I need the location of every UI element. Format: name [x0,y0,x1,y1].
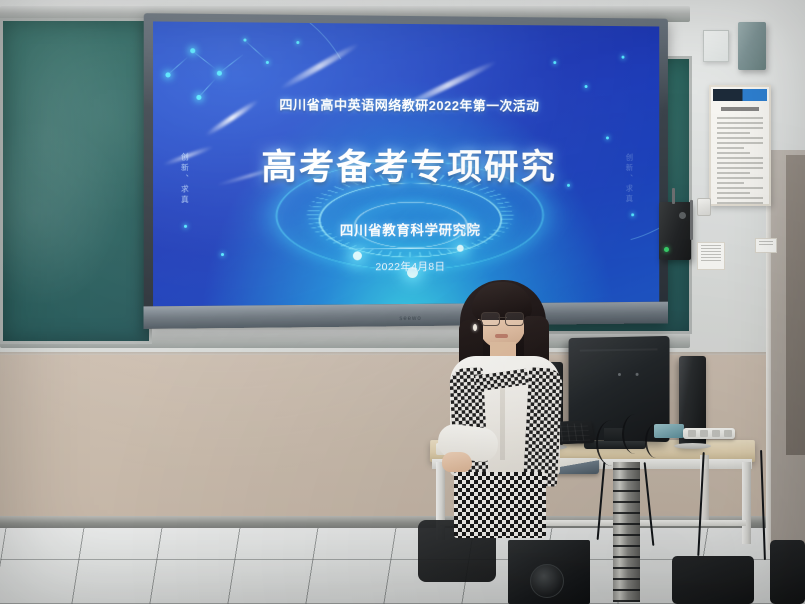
framed-notice-poster [709,85,771,206]
wall-conduit [672,188,675,204]
wall-mounted-panel [703,30,729,62]
wall-conduit [690,200,693,240]
vest-right-panel [523,367,563,487]
slide-date: 2022年4月8日 [375,259,445,274]
speaker-right-base [674,443,711,449]
wall-outlet[interactable] [697,198,711,216]
interactive-whiteboard[interactable]: 创新、求真 创新、求真 四川省高中英语网络教研2022年第一次活动 高考备考专项… [144,13,668,329]
desk-leg-front-right [742,462,751,544]
slide-divider [335,248,485,250]
monitor-indicator [618,373,621,376]
cable [645,424,667,458]
paper-notice [697,242,725,270]
notice-body-lines [717,117,763,196]
floor-object [770,540,805,604]
slide-subtitle: 四川省高中英语网络教研2022年第一次活动 [279,95,539,115]
lens-right [505,312,524,326]
subwoofer-driver [530,564,564,598]
presenter [432,276,572,536]
power-socket [700,430,708,437]
slide-text-block: 创新、求真 创新、求真 四川省高中英语网络教研2022年第一次活动 高考备考专项… [153,21,659,306]
slide-organization: 四川省教育科学研究院 [340,218,481,239]
floor-object [672,556,754,604]
power-socket [712,430,720,437]
hand-on-mouse [442,452,472,472]
monitor-vent [580,348,658,351]
cable-bundle-ties [613,462,640,602]
slide-motto-left: 创新、求真 [179,153,190,206]
slide-main-title: 高考备考专项研究 [261,138,556,190]
notice-header-band [713,89,767,101]
monitor-indicator [636,373,639,376]
subwoofer [508,540,590,604]
cable [622,414,648,454]
slide-motto-right: 创新、求真 [624,153,635,205]
power-socket [688,430,696,437]
green-chalkboard-left [0,18,152,344]
eyeglasses-icon [481,312,524,324]
lens-left [481,312,500,326]
doorway-shadow [786,155,805,455]
earring [473,324,477,331]
wall-mounted-speaker [738,22,766,70]
whiteboard-brand-logo: seewo [399,316,421,322]
wall-amplifier-unit[interactable] [659,202,691,260]
power-socket [724,430,732,437]
classroom-scene: 创新、求真 创新、求真 四川省高中英语网络教研2022年第一次活动 高考备考专项… [0,0,805,604]
projected-slide: 创新、求真 创新、求真 四川省高中英语网络教研2022年第一次活动 高考备考专项… [153,21,659,306]
amplifier-power-led [664,247,669,252]
paper-notice [755,238,777,253]
mouth [495,334,508,338]
power-strip[interactable] [683,428,735,439]
notice-title-bar [721,107,759,111]
amplifier-knob[interactable] [679,212,686,219]
skirt [454,472,546,538]
